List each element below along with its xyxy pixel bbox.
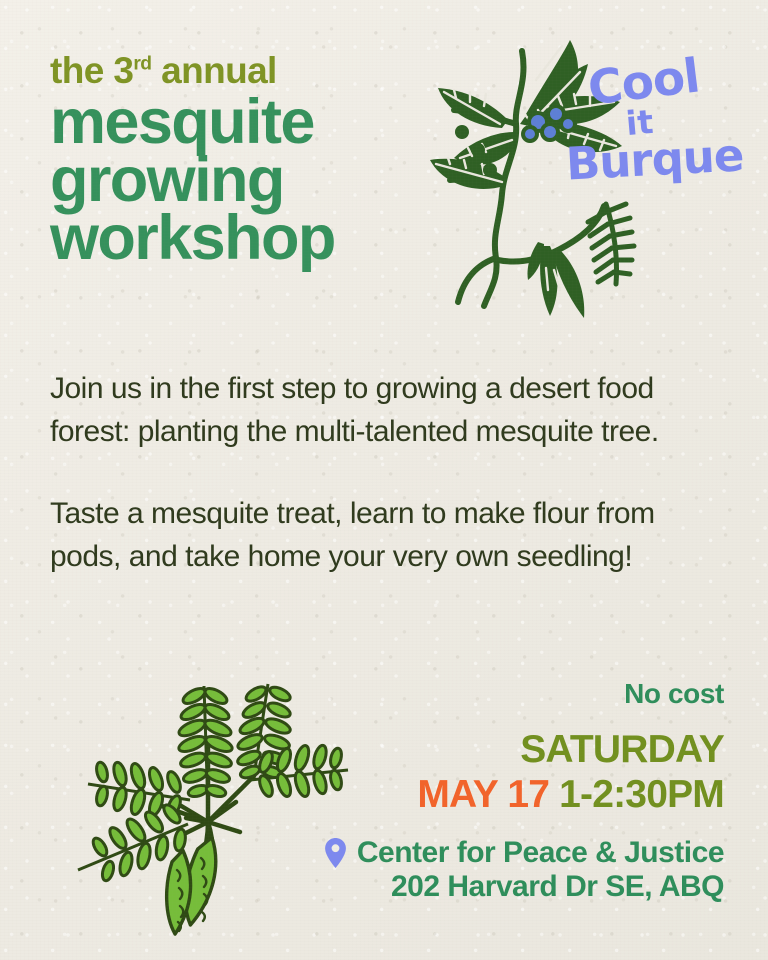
venue-block: Center for Peace & Justice 202 Harvard D… <box>294 836 724 903</box>
cool-it-burque-wordmark: Cool it Burque <box>580 55 740 205</box>
event-date: MAY 17 <box>417 773 549 816</box>
headline-block: the 3rd annual mesquite growing workshop <box>50 52 450 269</box>
location-pin-icon <box>323 837 348 869</box>
eyebrow-prefix: the <box>50 50 113 91</box>
venue-name: Center for Peace & Justice <box>357 836 724 870</box>
eyebrow-ordinal-suffix: rd <box>133 54 151 75</box>
body-paragraph-1: Join us in the first step to growing a d… <box>50 368 710 453</box>
wordmark-line-burque: Burque <box>565 128 745 190</box>
body-copy: Join us in the first step to growing a d… <box>50 368 710 578</box>
event-time: 1-2:30PM <box>559 773 724 816</box>
title-line-growing: growing <box>50 151 450 211</box>
event-details: No cost SATURDAY MAY 17 1-2:30PM Center … <box>294 680 724 903</box>
eyebrow-text: the 3rd annual <box>50 52 450 89</box>
title-line-workshop: workshop <box>50 209 450 269</box>
event-poster: the 3rd annual mesquite growing workshop <box>0 0 768 960</box>
cost-label: No cost <box>294 680 724 708</box>
venue-name-row: Center for Peace & Justice <box>294 836 724 870</box>
eyebrow-suffix: annual <box>151 50 276 91</box>
venue-address: 202 Harvard Dr SE, ABQ <box>294 870 724 904</box>
body-paragraph-2: Taste a mesquite treat, learn to make fl… <box>50 493 710 578</box>
title-line-mesquite: mesquite <box>50 93 450 153</box>
event-day: SATURDAY <box>294 730 724 769</box>
eyebrow-number: 3 <box>113 50 133 91</box>
event-date-time-row: MAY 17 1-2:30PM <box>294 775 724 816</box>
